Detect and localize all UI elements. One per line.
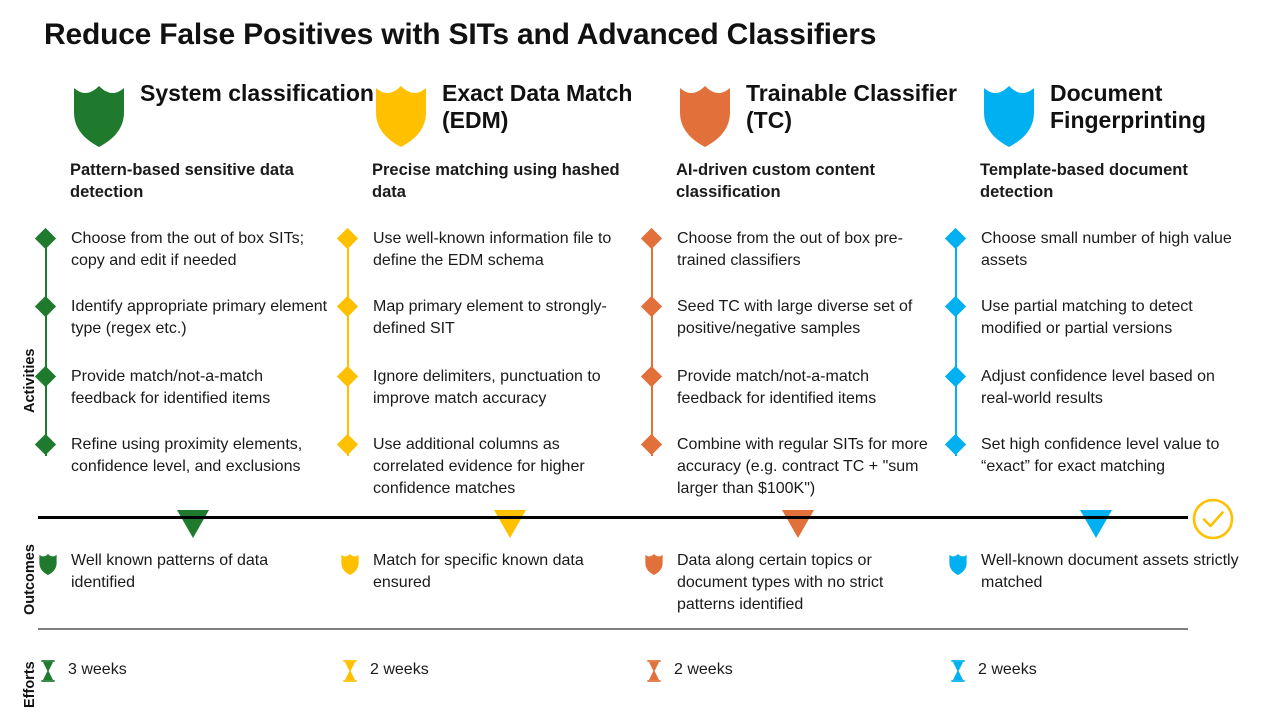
activity-text: Seed TC with large diverse set of positi…	[677, 296, 937, 340]
column-title: Trainable Classifier (TC)	[746, 80, 986, 134]
diamond-bullet-icon	[641, 434, 662, 455]
shield-icon	[70, 82, 128, 148]
column-title: Exact Data Match (EDM)	[442, 80, 682, 134]
diamond-bullet-icon	[945, 228, 966, 249]
activities-connector-line	[955, 244, 957, 456]
slide-canvas: Reduce False Positives with SITs and Adv…	[0, 0, 1280, 720]
down-triangle-marker-icon	[177, 510, 209, 538]
activity-text: Choose from the out of box pre-trained c…	[677, 228, 937, 272]
activities-connector-line	[45, 244, 47, 456]
shield-icon	[372, 82, 430, 148]
shield-icon	[980, 82, 1038, 148]
diamond-bullet-icon	[337, 296, 358, 317]
diamond-bullet-icon	[641, 366, 662, 387]
diamond-bullet-icon	[641, 228, 662, 249]
diamond-bullet-icon	[337, 434, 358, 455]
effort-text: 2 weeks	[370, 661, 429, 679]
diamond-bullet-icon	[641, 296, 662, 317]
row-label-efforts: Efforts	[22, 661, 38, 708]
diamond-bullet-icon	[945, 366, 966, 387]
activity-text: Ignore delimiters, punctuation to improv…	[373, 366, 633, 410]
down-triangle-marker-icon	[1080, 510, 1112, 538]
column-subtitle: Template-based document detection	[980, 160, 1245, 204]
column-title: Document Fingerprinting	[1050, 80, 1280, 134]
page-title: Reduce False Positives with SITs and Adv…	[44, 18, 876, 52]
column-subtitle: Pattern-based sensitive data detection	[70, 160, 335, 204]
diamond-bullet-icon	[945, 434, 966, 455]
activity-text: Provide match/not-a-match feedback for i…	[71, 366, 331, 410]
activity-text: Refine using proximity elements, confide…	[71, 434, 331, 478]
check-circle-icon	[1192, 498, 1234, 540]
shield-icon	[38, 552, 58, 576]
diamond-bullet-icon	[35, 366, 56, 387]
shield-icon	[948, 552, 968, 576]
diamond-bullet-icon	[945, 296, 966, 317]
effort-text: 2 weeks	[978, 661, 1037, 679]
activity-text: Choose from the out of box SITs; copy an…	[71, 228, 331, 272]
activity-text: Use well-known information file to defin…	[373, 228, 633, 272]
column-title: System classification	[140, 80, 380, 107]
shield-icon	[644, 552, 664, 576]
outcome-text: Well-known document assets strictly matc…	[981, 550, 1243, 594]
activity-text: Provide match/not-a-match feedback for i…	[677, 366, 937, 410]
activities-connector-line	[651, 244, 653, 456]
outcome-text: Match for specific known data ensured	[373, 550, 635, 594]
activity-text: Use additional columns as correlated evi…	[373, 434, 633, 500]
diamond-bullet-icon	[35, 296, 56, 317]
down-triangle-marker-icon	[782, 510, 814, 538]
efforts-divider	[38, 628, 1188, 630]
column-subtitle: AI-driven custom content classification	[676, 160, 941, 204]
diamond-bullet-icon	[337, 366, 358, 387]
diamond-bullet-icon	[35, 434, 56, 455]
activity-text: Set high confidence level value to “exac…	[981, 434, 1241, 478]
effort-text: 3 weeks	[68, 661, 127, 679]
hourglass-icon	[342, 660, 358, 682]
diamond-bullet-icon	[337, 228, 358, 249]
hourglass-icon	[950, 660, 966, 682]
timeline-axis	[38, 516, 1188, 519]
activity-text: Adjust confidence level based on real-wo…	[981, 366, 1241, 410]
activities-connector-line	[347, 244, 349, 456]
down-triangle-marker-icon	[494, 510, 526, 538]
activity-text: Map primary element to strongly-defined …	[373, 296, 633, 340]
activity-text: Identify appropriate primary element typ…	[71, 296, 331, 340]
shield-icon	[676, 82, 734, 148]
outcome-text: Data along certain topics or document ty…	[677, 550, 939, 616]
diamond-bullet-icon	[35, 228, 56, 249]
hourglass-icon	[40, 660, 56, 682]
row-label-outcomes: Outcomes	[22, 544, 38, 615]
activity-text: Combine with regular SITs for more accur…	[677, 434, 937, 500]
row-label-activities: Activities	[22, 349, 38, 413]
shield-icon	[340, 552, 360, 576]
activity-text: Use partial matching to detect modified …	[981, 296, 1241, 340]
effort-text: 2 weeks	[674, 661, 733, 679]
column-subtitle: Precise matching using hashed data	[372, 160, 637, 204]
activity-text: Choose small number of high value assets	[981, 228, 1241, 272]
hourglass-icon	[646, 660, 662, 682]
outcome-text: Well known patterns of data identified	[71, 550, 333, 594]
